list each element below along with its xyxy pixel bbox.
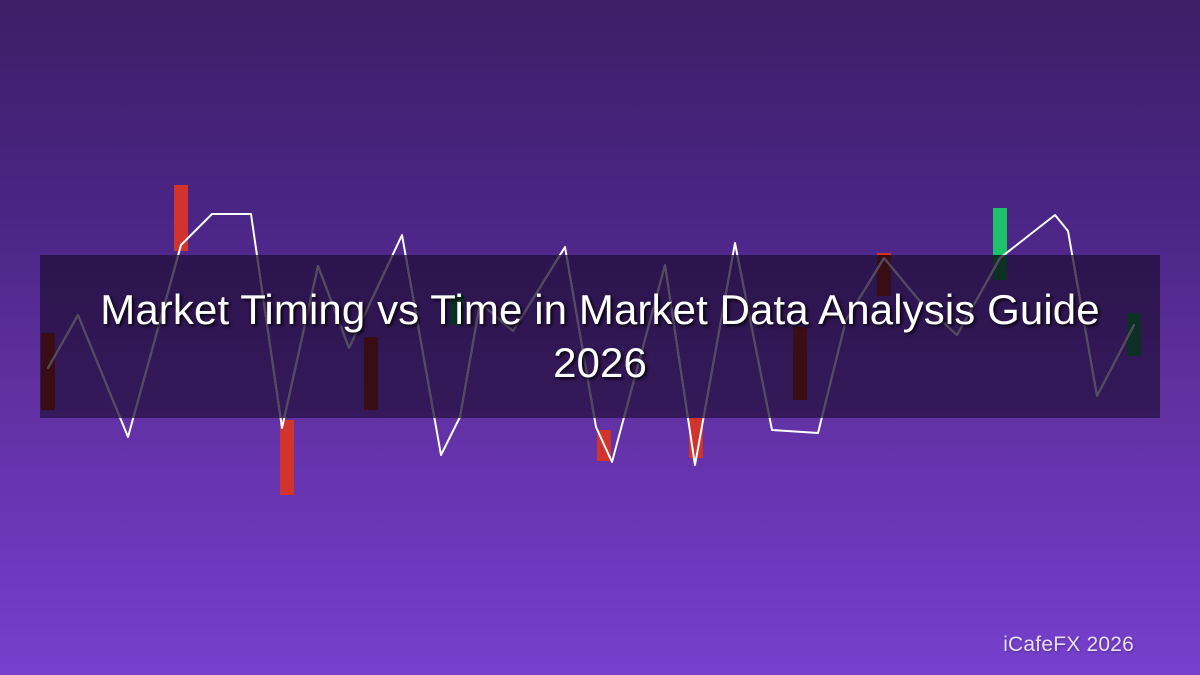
title-container: Market Timing vs Time in Market Data Ana… bbox=[40, 255, 1160, 418]
page-title: Market Timing vs Time in Market Data Ana… bbox=[95, 284, 1105, 388]
candle-up bbox=[993, 208, 1007, 255]
brand-watermark: iCafeFX 2026 bbox=[1003, 633, 1134, 657]
candle-down bbox=[280, 420, 294, 495]
hero-banner: Market Timing vs Time in Market Data Ana… bbox=[0, 0, 1200, 675]
